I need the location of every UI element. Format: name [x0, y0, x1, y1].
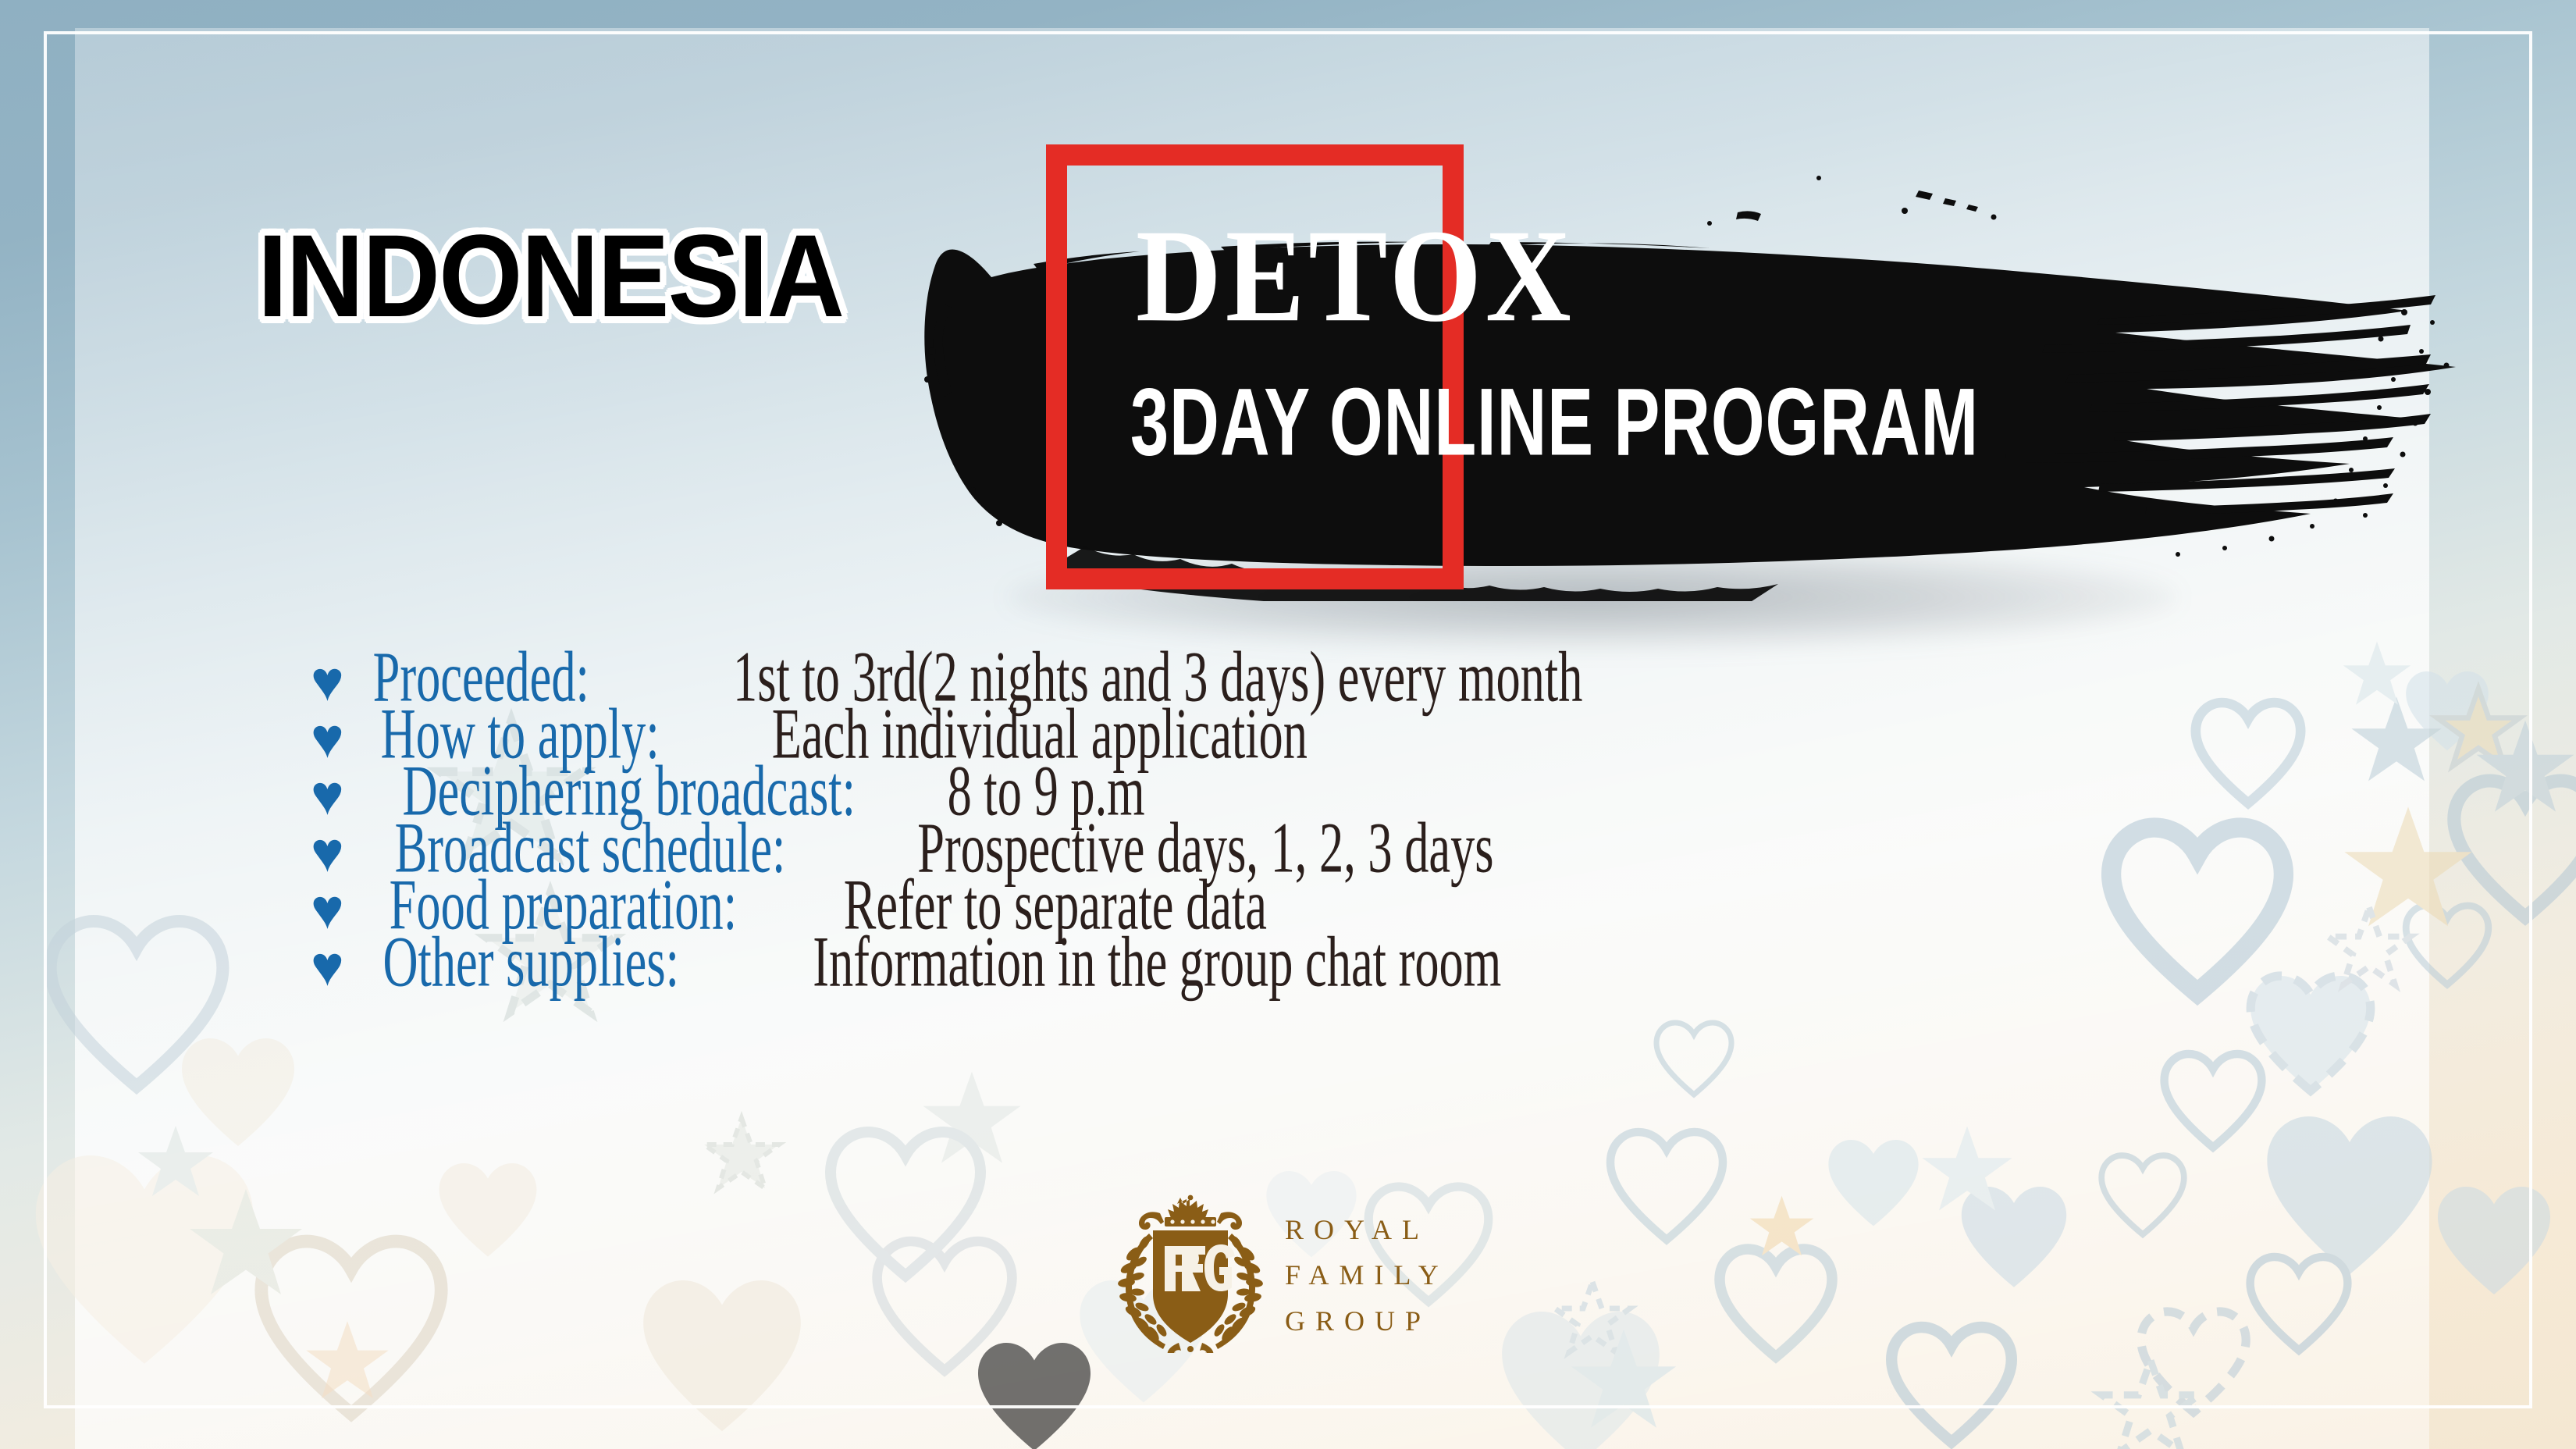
region-title: INDONESIA	[258, 217, 843, 334]
heart-bullet-icon: ♥	[311, 653, 344, 710]
headline-section: INDONESIA	[0, 0, 2576, 617]
logo-line-1: ROYAL	[1285, 1207, 1449, 1252]
rfg-shield-crest-icon	[1116, 1193, 1265, 1353]
heart-bullet-icon: ♥	[311, 881, 344, 938]
heart-bullet-icon: ♥	[311, 824, 344, 881]
logo-line-3: GROUP	[1285, 1298, 1449, 1344]
detail-value: Information in the group chat room	[813, 926, 1501, 998]
brand-subtitle: 3DAY ONLINE PROGRAM	[1130, 375, 1979, 471]
promo-poster: INDONESIA	[0, 0, 2576, 1449]
detail-label: Other supplies:	[382, 926, 679, 998]
logo-line-2: FAMILY	[1285, 1252, 1449, 1298]
heart-bullet-icon: ♥	[311, 767, 344, 824]
royal-family-group-logo: ROYAL FAMILY GROUP	[1116, 1193, 1449, 1353]
logo-wordmark: ROYAL FAMILY GROUP	[1285, 1202, 1449, 1344]
heart-bullet-icon: ♥	[311, 938, 344, 995]
list-item: ♥ Other supplies: Information in the gro…	[311, 931, 2262, 988]
heart-bullet-icon: ♥	[311, 710, 344, 767]
brand-title: DETOX	[1136, 209, 1575, 342]
program-details-list: ♥ Proceeded: 1st to 3rd(2 nights and 3 d…	[311, 646, 2262, 988]
